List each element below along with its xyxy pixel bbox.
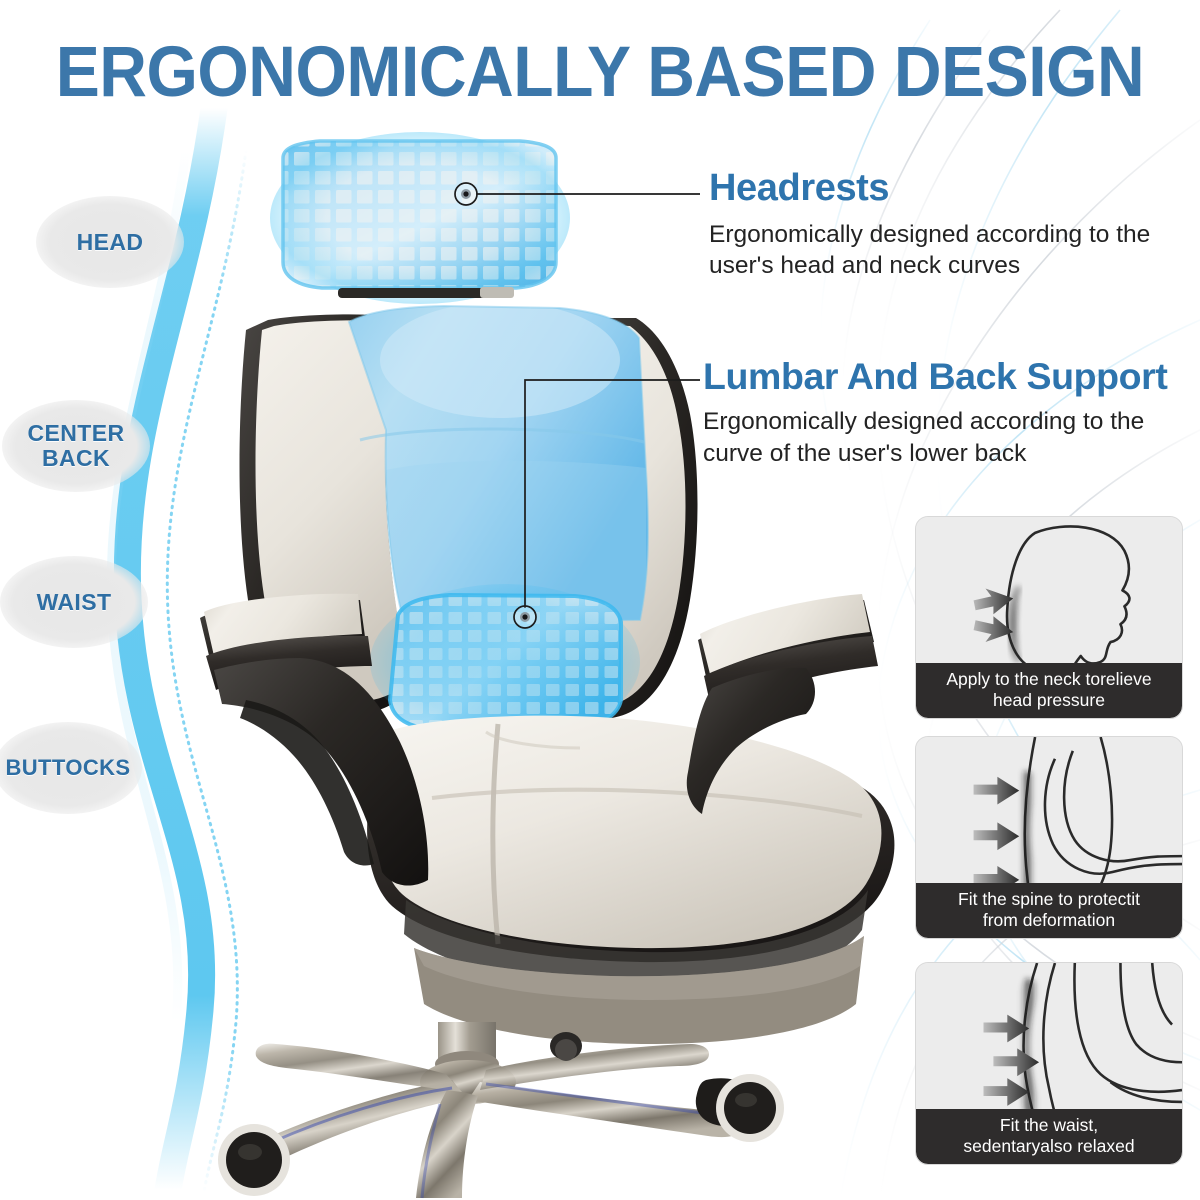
feature-panel-spine-caption-line1: Fit the spine to protectit [922,889,1176,909]
caster-left [218,1124,290,1196]
callout-lumbar-support: Lumbar And Back Support Ergonomically de… [703,356,1173,469]
feature-panel-waist: Fit the waist, sedentaryalso relaxed [915,962,1183,1165]
feature-panel-waist-caption: Fit the waist, sedentaryalso relaxed [916,1109,1182,1164]
feature-panel-neck-caption-line2: head pressure [922,690,1176,710]
chair-headrest [270,132,570,304]
callout-headrests-title: Headrests [709,168,1179,210]
feature-panel-neck-caption: Apply to the neck torelieve head pressur… [916,663,1182,718]
chair-seat [367,716,894,990]
callout-lumbar-support-body: Ergonomically designed according to the … [703,406,1173,469]
headrest-mesh-grid [283,141,558,291]
feature-panel-neck-caption-line1: Apply to the neck torelieve [922,669,1176,689]
lumbar-mesh-grid [388,592,628,736]
feature-panel-waist-caption-line1: Fit the waist, [922,1115,1176,1135]
feature-panel-neck: Apply to the neck torelieve head pressur… [915,516,1183,719]
feature-panel-spine-caption: Fit the spine to protectit from deformat… [916,883,1182,938]
feature-panel-spine: Fit the spine to protectit from deformat… [915,736,1183,939]
chair-star-base [218,1032,784,1198]
infographic-canvas: ERGONOMICALLY BASED DESIGN HEAD CENTERBA… [0,0,1200,1200]
feature-panel-waist-caption-line2: sedentaryalso relaxed [922,1136,1176,1156]
feature-panel-spine-caption-line2: from deformation [922,910,1176,930]
callout-lumbar-support-title: Lumbar And Back Support [703,356,1173,397]
callout-headrests-body: Ergonomically designed according to the … [709,219,1179,282]
callout-headrests: Headrests Ergonomically designed accordi… [709,168,1179,282]
